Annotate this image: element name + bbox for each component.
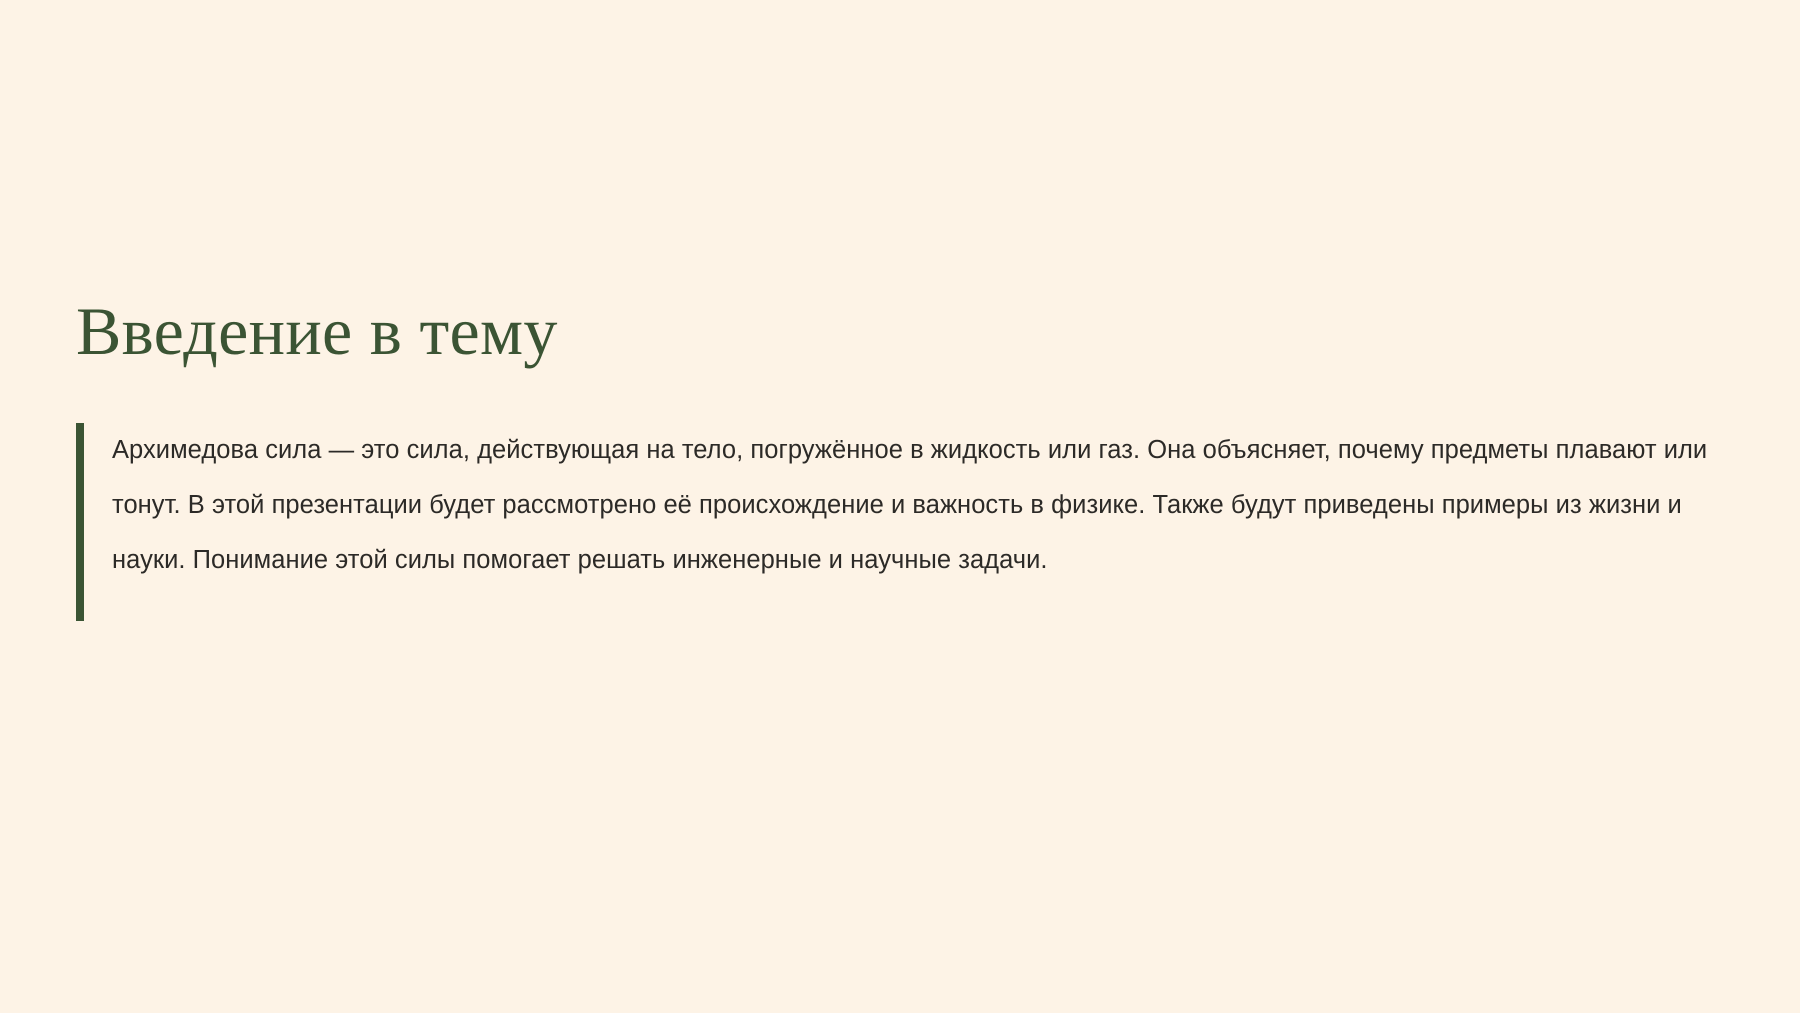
body-quote-block: Архимедова сила — это сила, действующая … bbox=[76, 423, 1716, 621]
slide-content: Введение в тему Архимедова сила — это си… bbox=[76, 296, 1716, 621]
presentation-slide: Введение в тему Архимедова сила — это си… bbox=[0, 0, 1800, 1013]
body-paragraph: Архимедова сила — это сила, действующая … bbox=[112, 423, 1712, 588]
page-title: Введение в тему bbox=[76, 296, 1716, 367]
accent-bar bbox=[76, 423, 84, 621]
